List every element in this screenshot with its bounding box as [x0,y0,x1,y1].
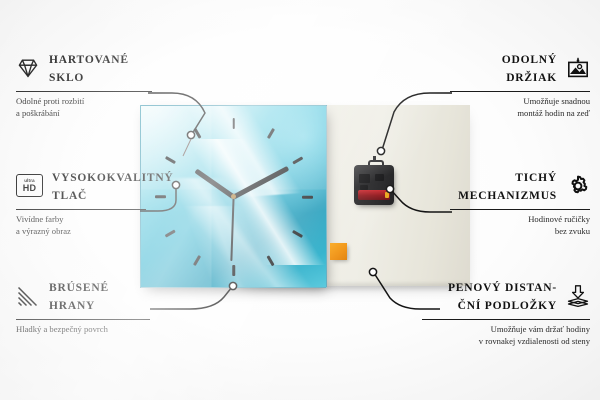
feature-desc-line1: Umožňuje snadnou [450,96,590,108]
gear-icon [566,174,590,198]
ultra-hd-icon-main: HD [23,184,37,193]
ultra-hd-icon: ultra HD [16,174,43,197]
divider [16,209,146,210]
foam-pad-icon [566,284,590,308]
feature-title-line2: ČNÍ PODLOŽKY [458,300,557,312]
clock-center-pin [231,194,236,199]
divider [450,91,590,92]
feature-desc-line2: a výrazný obraz [16,226,146,238]
feature-title-line2: SKLO [49,72,84,84]
feature-title-line1: ODOLNÝ [502,54,557,66]
diamond-icon [16,56,40,80]
feature-title-line2: MECHANIZMUS [458,190,557,202]
feature-desc-line1: Odolné proti rozbití [16,96,152,108]
feature-desc-line2: bez zvuku [450,226,590,238]
divider [16,91,152,92]
feature-desc-line2: a poškrábání [16,108,152,120]
feature-silent-mechanism: TICHÝ MECHANIZMUS Hodinové ručičky bez z… [450,168,590,238]
feature-desc-line2: montáž hodin na zeď [450,108,590,120]
polished-edges-icon [16,284,40,308]
feature-durable-hanger: ODOLNÝ DRŽIAK Umožňuje snadnou montáž ho… [450,50,590,120]
feature-title-line2: HRANY [49,300,95,312]
feature-title-line1: BRÚSENÉ [49,282,109,294]
feature-desc-line1: Umožňuje vám držať hodiny [422,324,590,336]
feature-foam-spacers: PENOVÝ DISTAN- ČNÍ PODLOŽKY Umožňuje vám… [422,278,590,348]
feature-title-line2: DRŽIAK [506,72,557,84]
feature-title-line1: VYSOKOKVALITNÝ [52,172,174,184]
feature-desc-line1: Hodinové ručičky [450,214,590,226]
feature-desc-line1: Vivídne farby [16,214,146,226]
divider [422,319,590,320]
divider [450,209,590,210]
infographic-canvas: HARTOVANÉ SKLO Odolné proti rozbití a po… [0,0,600,400]
foam-spacer-pad [330,243,347,260]
product-photo [140,105,470,286]
battery [358,190,390,200]
divider [16,319,150,320]
wall-hanger-icon [566,56,590,80]
feature-desc-line1: Hladký a bezpečný povrch [16,324,150,336]
feature-title-line1: PENOVÝ DISTAN- [448,282,557,294]
feature-title-line1: TICHÝ [515,172,557,184]
feature-tempered-glass: HARTOVANÉ SKLO Odolné proti rozbití a po… [16,50,152,120]
feature-polished-edges: BRÚSENÉ HRANY Hladký a bezpečný povrch [16,278,150,336]
feature-high-quality-print: ultra HD VYSOKOKVALITNÝ TLAČ Vivídne far… [16,168,146,238]
feature-title-line2: TLAČ [52,190,87,202]
feature-desc-line2: v rovnakej vzdialenosti od steny [422,336,590,348]
clock-movement-mechanism [354,165,394,205]
feature-title-line1: HARTOVANÉ [49,54,129,66]
